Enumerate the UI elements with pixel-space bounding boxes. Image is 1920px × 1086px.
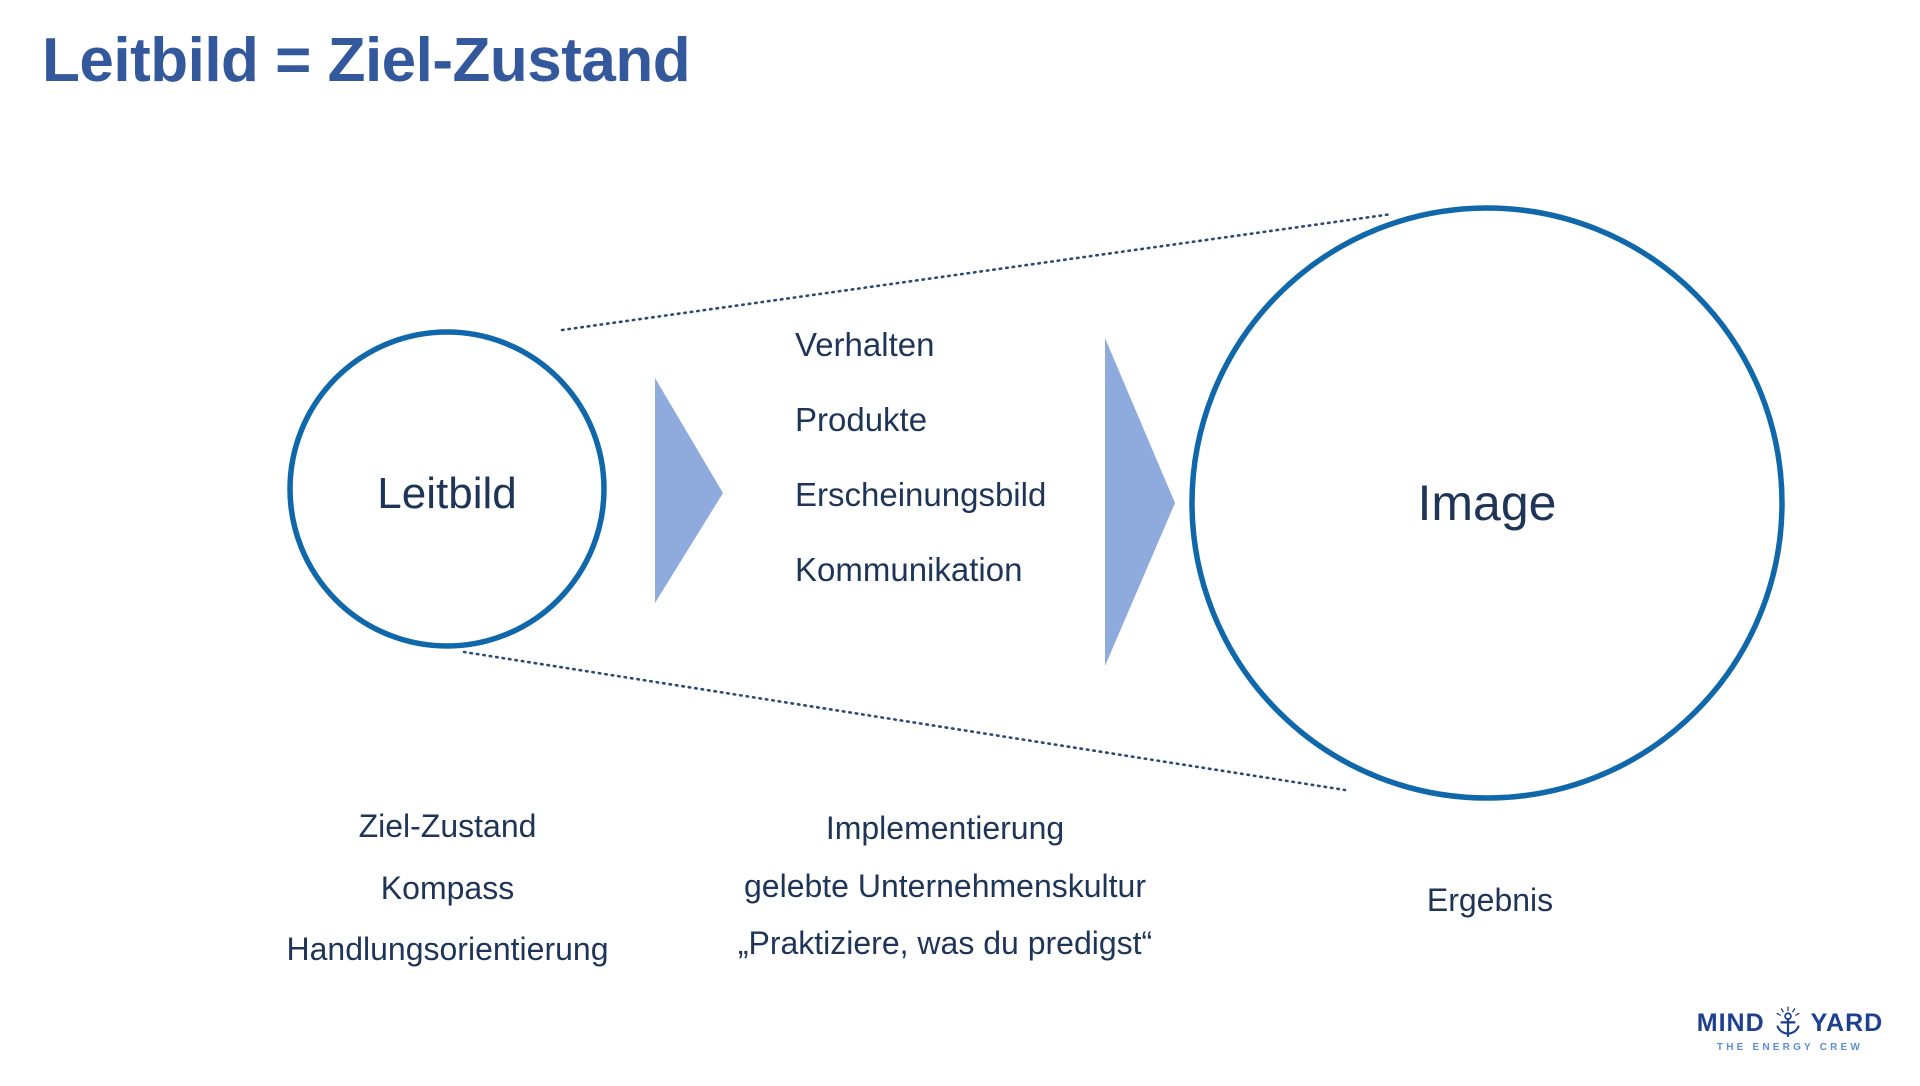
page-title: Leitbild = Ziel-Zustand	[42, 25, 690, 96]
caption-column-right: Ergebnis	[1300, 880, 1680, 922]
logo-word-mind: MIND	[1697, 1009, 1765, 1038]
caption-line: gelebte Unternehmenskultur	[720, 866, 1170, 908]
image-circle-label: Image	[1418, 474, 1557, 532]
caption-column-left: Ziel-Zustand Kompass Handlungsorientieru…	[155, 806, 740, 991]
caption-column-middle: Implementierung gelebte Unternehmenskult…	[720, 808, 1170, 981]
middle-list-item: Verhalten	[795, 328, 1125, 361]
leitbild-circle-label: Leitbild	[377, 469, 516, 519]
caption-line: Implementierung	[720, 808, 1170, 850]
caption-line: Ziel-Zustand	[155, 806, 740, 848]
middle-list-item: Erscheinungsbild	[795, 478, 1125, 511]
caption-line: „Praktiziere, was du predigst“	[720, 923, 1170, 965]
brand-logo: MIND YARD THE ENERGY CREW	[1690, 1006, 1890, 1066]
middle-factor-list: Verhalten Produkte Erscheinungsbild Komm…	[795, 328, 1125, 628]
caption-line: Handlungsorientierung	[155, 929, 740, 971]
middle-list-item: Kommunikation	[795, 553, 1125, 586]
anchor-sunburst-icon	[1773, 1006, 1803, 1040]
logo-word-yard: YARD	[1811, 1009, 1884, 1038]
logo-tagline: THE ENERGY CREW	[1690, 1042, 1890, 1053]
bottom-dotted-connector	[464, 652, 1345, 790]
top-dotted-connector	[562, 214, 1392, 330]
slide-canvas: Leitbild = Ziel-Zustand Leitbild Image V…	[0, 0, 1920, 1086]
arrow-leitbild-to-middle	[655, 378, 723, 603]
caption-line: Ergebnis	[1300, 880, 1680, 922]
logo-wordmark: MIND YARD	[1690, 1006, 1890, 1040]
middle-list-item: Produkte	[795, 403, 1125, 436]
caption-line: Kompass	[155, 868, 740, 910]
